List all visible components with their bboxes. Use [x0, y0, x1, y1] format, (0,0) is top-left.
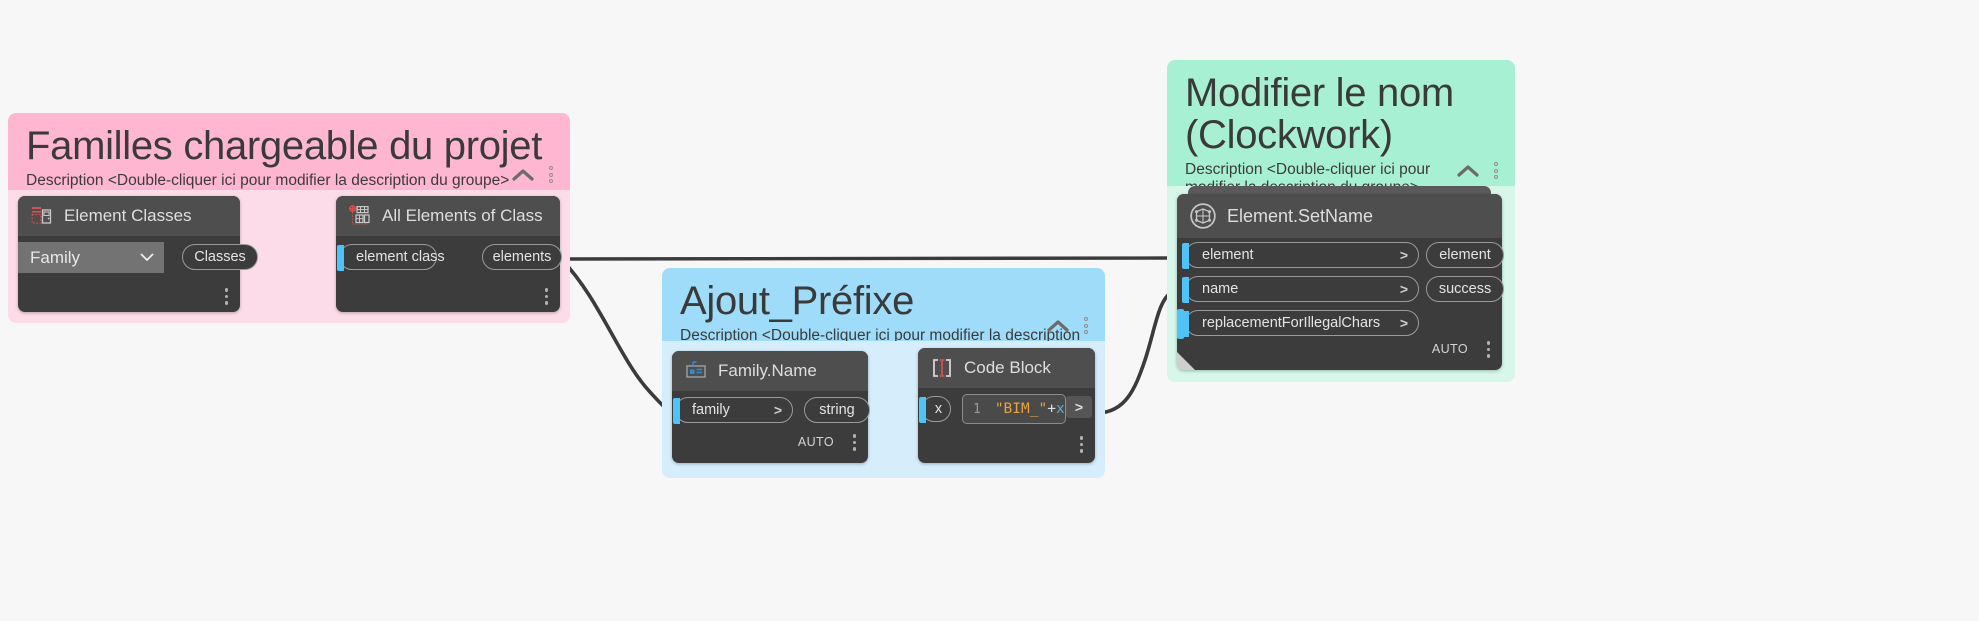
node-dots-icon[interactable] [225, 288, 229, 305]
element-classes-icon [30, 204, 54, 228]
node-dots-icon[interactable] [545, 288, 549, 305]
code-string-literal: "BIM_" [995, 401, 1047, 417]
node-family-name[interactable]: Family.Name family > string AUTO [672, 351, 868, 463]
chevron-up-icon[interactable] [510, 166, 536, 184]
node-ports: element > element name > success replace… [1177, 238, 1502, 338]
node-footer [336, 282, 560, 312]
input-port-element[interactable]: element > [1185, 242, 1419, 268]
dynamo-canvas[interactable]: Familles chargeable du projet Descriptio… [0, 0, 1979, 621]
node-code-block[interactable]: Code Block x 1 "BIM_"+x; > [918, 348, 1095, 463]
node-title-label: Code Block [964, 358, 1051, 378]
element-setname-icon [1189, 202, 1217, 230]
node-footer: AUTO [672, 433, 868, 463]
expand-chevron-icon[interactable]: > [1400, 315, 1408, 331]
group-header[interactable]: Modifier le nom (Clockwork) Description … [1167, 60, 1515, 186]
input-port-element-class[interactable]: element class [339, 244, 437, 270]
node-footer: AUTO [1177, 338, 1502, 370]
expand-chevron-icon[interactable]: > [1400, 247, 1408, 263]
port-connected-marker [1182, 243, 1189, 269]
input-port-family[interactable]: family > [675, 397, 793, 423]
output-port-label: success [1439, 281, 1491, 297]
lacing-label: AUTO [798, 435, 834, 449]
expand-chevron-icon[interactable]: > [1400, 281, 1408, 297]
node-title-label: Element.SetName [1227, 206, 1373, 227]
port-connected-marker [673, 398, 680, 424]
code-block-editor[interactable]: 1 "BIM_"+x; [962, 394, 1066, 424]
input-port-replacement-for-illegal-chars[interactable]: replacementForIllegalChars > [1185, 310, 1419, 336]
node-footer [918, 434, 1095, 464]
chevron-down-icon [140, 250, 154, 265]
input-port-label: name [1202, 281, 1238, 297]
lacing-label: AUTO [1432, 342, 1468, 356]
output-port-element[interactable]: element [1426, 242, 1504, 268]
node-title-bar[interactable]: Element.SetName [1177, 194, 1502, 238]
group-header[interactable]: Ajout_Préfixe Description <Double-clique… [662, 268, 1105, 341]
input-port-label: element [1202, 247, 1254, 263]
output-port-label: element [1439, 247, 1491, 263]
element-class-dropdown[interactable]: Family [18, 242, 164, 273]
family-name-icon [684, 359, 708, 383]
node-title-bar[interactable]: Family.Name [672, 351, 868, 391]
node-title-bar[interactable]: Code Block [918, 348, 1095, 388]
group-dots-icon[interactable] [1081, 317, 1091, 334]
port-connected-marker [337, 245, 344, 271]
chevron-up-icon[interactable] [1455, 162, 1481, 180]
output-port-label: Classes [194, 249, 246, 265]
node-title-bar[interactable]: Element Classes [18, 196, 240, 236]
input-port-label: element class [356, 249, 445, 265]
group-dots-icon[interactable] [1491, 162, 1501, 179]
output-port-label: elements [493, 249, 552, 265]
node-ports: x 1 "BIM_"+x; > [918, 388, 1095, 434]
output-chevron-icon: > [1075, 399, 1083, 415]
output-port-codeblock[interactable]: > [1066, 396, 1092, 418]
node-dots-icon[interactable] [1080, 436, 1084, 453]
group-description: Description <Double-cliquer ici pour mod… [26, 172, 552, 190]
port-connected-marker [919, 397, 926, 423]
expand-chevron-icon[interactable]: > [774, 402, 782, 418]
node-dots-icon[interactable] [1487, 341, 1491, 358]
node-all-elements-of-class[interactable]: All Elements of Class element class elem… [336, 196, 560, 312]
group-title: Ajout_Préfixe [680, 280, 1087, 322]
node-ports: element class elements [336, 236, 560, 282]
input-port-label: replacementForIllegalChars [1202, 315, 1380, 331]
group-header[interactable]: Familles chargeable du projet Descriptio… [8, 113, 570, 190]
port-connected-marker [1182, 277, 1189, 303]
code-line-number: 1 [963, 402, 987, 417]
node-title-label: Family.Name [718, 361, 817, 381]
group-title: Modifier le nom (Clockwork) [1185, 72, 1497, 156]
node-element-classes[interactable]: Element Classes Family Classes [18, 196, 240, 312]
group-dots-icon[interactable] [546, 166, 556, 183]
input-port-x[interactable]: x [921, 396, 951, 422]
code-variable: x [1056, 401, 1065, 417]
node-footer [18, 282, 240, 312]
code-operator: + [1047, 401, 1056, 417]
node-title-bar[interactable]: All Elements of Class [336, 196, 560, 236]
node-dots-icon[interactable] [853, 434, 857, 451]
code-block-icon [930, 356, 954, 380]
node-title-label: All Elements of Class [382, 206, 543, 226]
output-port-success[interactable]: success [1426, 276, 1504, 302]
dropdown-value: Family [30, 248, 80, 268]
input-port-name[interactable]: name > [1185, 276, 1419, 302]
group-title: Familles chargeable du projet [26, 125, 552, 167]
output-port-elements[interactable]: elements [482, 244, 562, 270]
output-port-classes[interactable]: Classes [182, 244, 258, 270]
input-port-label: x [935, 401, 942, 417]
output-port-string[interactable]: string [804, 397, 870, 423]
node-ports: family > string [672, 391, 868, 433]
chevron-up-icon[interactable] [1045, 317, 1071, 335]
output-port-label: string [819, 402, 854, 418]
node-resize-handle[interactable] [1177, 352, 1195, 370]
input-port-label: family [692, 402, 730, 418]
node-title-label: Element Classes [64, 206, 192, 226]
node-ports: Family Classes [18, 236, 240, 282]
node-element-setname[interactable]: Element.SetName element > element name >… [1177, 194, 1502, 370]
all-elements-of-class-icon [348, 204, 372, 228]
port-edge-marker [1182, 311, 1189, 337]
